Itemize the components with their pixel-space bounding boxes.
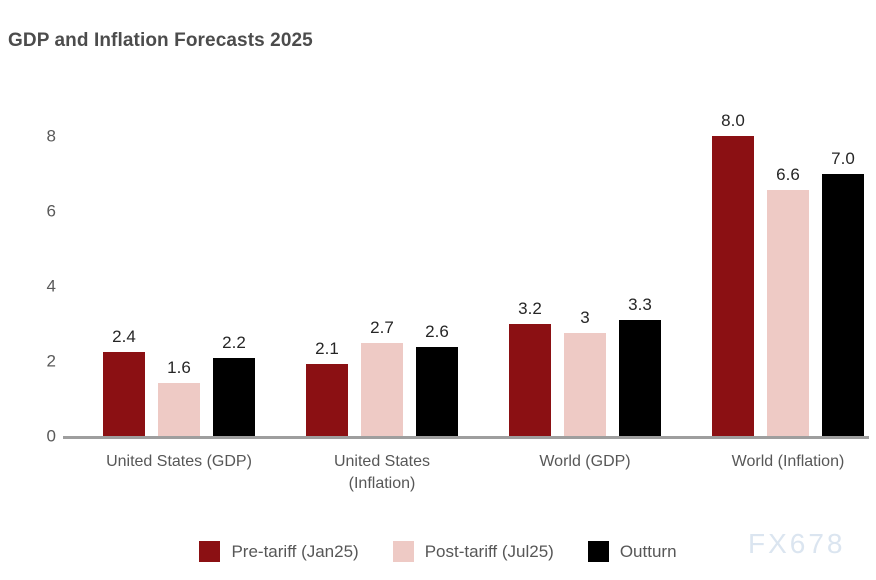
bar bbox=[619, 320, 661, 436]
bar bbox=[509, 324, 551, 436]
x-axis-group-label-line: United States (GDP) bbox=[79, 451, 279, 473]
x-axis-group-label: World (GDP) bbox=[485, 451, 685, 473]
bar bbox=[564, 333, 606, 436]
x-axis-group-label-line: (Inflation) bbox=[282, 473, 482, 495]
bar-value-label: 6.6 bbox=[757, 166, 819, 183]
bar-value-label: 7.0 bbox=[812, 150, 874, 167]
bar-value-label: 8.0 bbox=[702, 112, 764, 129]
legend-label: Outturn bbox=[620, 542, 677, 562]
bar bbox=[361, 343, 403, 436]
bar-value-label: 3.2 bbox=[499, 300, 561, 317]
legend-label: Pre-tariff (Jan25) bbox=[231, 542, 358, 562]
bar bbox=[306, 364, 348, 436]
watermark: FX678 bbox=[748, 528, 846, 560]
legend-item-2[interactable]: Outturn bbox=[588, 541, 677, 562]
bar bbox=[712, 136, 754, 436]
y-tick-label-6: 6 bbox=[16, 203, 56, 220]
y-tick-label-8: 8 bbox=[16, 128, 56, 145]
chart-title: GDP and Inflation Forecasts 2025 bbox=[8, 30, 313, 52]
bar bbox=[103, 352, 145, 436]
bar bbox=[767, 190, 809, 436]
chart-legend: Pre-tariff (Jan25)Post-tariff (Jul25)Out… bbox=[0, 541, 876, 562]
legend-swatch-icon bbox=[588, 541, 609, 562]
bar-value-label: 2.7 bbox=[351, 319, 413, 336]
bar bbox=[213, 358, 255, 436]
bar bbox=[416, 347, 458, 436]
bar-value-label: 1.6 bbox=[148, 359, 210, 376]
bar-value-label: 3 bbox=[554, 309, 616, 326]
x-axis-line bbox=[63, 436, 869, 439]
y-tick-label-4: 4 bbox=[16, 278, 56, 295]
legend-swatch-icon bbox=[199, 541, 220, 562]
y-tick-label-2: 2 bbox=[16, 353, 56, 370]
legend-label: Post-tariff (Jul25) bbox=[425, 542, 554, 562]
y-tick-label-0: 0 bbox=[16, 428, 56, 445]
legend-item-0[interactable]: Pre-tariff (Jan25) bbox=[199, 541, 358, 562]
bar-value-label: 3.3 bbox=[609, 296, 671, 313]
bar bbox=[822, 174, 864, 437]
legend-swatch-icon bbox=[393, 541, 414, 562]
bar-value-label: 2.6 bbox=[406, 323, 468, 340]
bar-value-label: 2.1 bbox=[296, 340, 358, 357]
x-axis-group-label-line: United States bbox=[282, 451, 482, 473]
bar bbox=[158, 383, 200, 436]
legend-item-1[interactable]: Post-tariff (Jul25) bbox=[393, 541, 554, 562]
chart-container: GDP and Inflation Forecasts 2025 Per Cen… bbox=[0, 0, 876, 580]
x-axis-group-label-line: World (Inflation) bbox=[688, 451, 876, 473]
bar-value-label: 2.2 bbox=[203, 334, 265, 351]
x-axis-group-label: United States(Inflation) bbox=[282, 451, 482, 494]
x-axis-group-label-line: World (GDP) bbox=[485, 451, 685, 473]
bar-value-label: 2.4 bbox=[93, 328, 155, 345]
x-axis-group-label: United States (GDP) bbox=[79, 451, 279, 473]
x-axis-group-label: World (Inflation) bbox=[688, 451, 876, 473]
